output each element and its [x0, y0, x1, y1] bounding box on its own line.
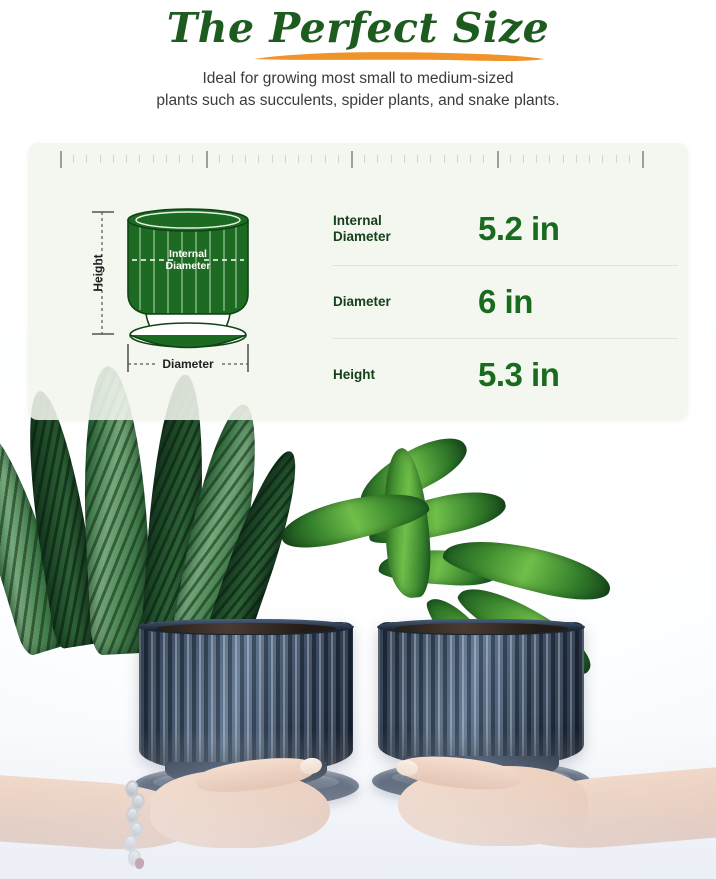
ruler-tick-major	[642, 151, 644, 168]
spec-value-diameter: 6 in	[478, 283, 533, 321]
spec-row-height: Height 5.3 in	[333, 338, 678, 411]
spec-row-diameter: Diameter 6 in	[333, 265, 678, 338]
subtitle-line-2: plants such as succulents, spider plants…	[58, 90, 658, 112]
spec-value-height: 5.3 in	[478, 356, 559, 394]
ruler-tick-minor	[444, 155, 445, 163]
ruler-tick-minor	[616, 155, 617, 163]
ruler-tick-minor	[285, 155, 286, 163]
ruler-tick-major	[497, 151, 499, 168]
ruler-tick-minor	[364, 155, 365, 163]
ruler-strip	[28, 151, 688, 173]
ruler-tick-minor	[510, 155, 511, 163]
diagram-diameter-label: Diameter	[162, 357, 214, 371]
page-title: The Perfect Size	[0, 4, 716, 52]
ruler-tick-minor	[232, 155, 233, 163]
spec-panel: Height Internal Diameter	[28, 143, 688, 420]
ruler-tick-minor	[576, 155, 577, 163]
saucer-right	[372, 760, 590, 802]
ruler-tick-minor	[391, 155, 392, 163]
ruler-tick-minor	[563, 155, 564, 163]
ruler-tick-minor	[298, 155, 299, 163]
ruler-tick-minor	[430, 155, 431, 163]
ruler-tick-minor	[470, 155, 471, 163]
spec-value-internal-diameter: 5.2 in	[478, 210, 559, 248]
ruler-tick-minor	[377, 155, 378, 163]
ruler-tick-minor	[272, 155, 273, 163]
ruler-tick-minor	[179, 155, 180, 163]
infographic-stage: The Perfect Size Ideal for growing most …	[0, 0, 716, 879]
pot-left	[139, 622, 353, 774]
ruler-tick-minor	[73, 155, 74, 163]
ruler-tick-minor	[523, 155, 524, 163]
ruler-tick-minor	[219, 155, 220, 163]
ruler-tick-minor	[139, 155, 140, 163]
ruler-tick-minor	[417, 155, 418, 163]
ruler-tick-minor	[100, 155, 101, 163]
ruler-tick-minor	[629, 155, 630, 163]
pot-diagram: Height Internal Diameter	[70, 198, 310, 388]
ruler-tick-minor	[325, 155, 326, 163]
ruler-tick-minor	[245, 155, 246, 163]
ruler-tick-minor	[311, 155, 312, 163]
ruler-tick-minor	[602, 155, 603, 163]
ruler-tick-major	[60, 151, 62, 168]
ruler-tick-minor	[258, 155, 259, 163]
spec-label-line-2: Diameter	[333, 229, 478, 245]
subtitle-line-1: Ideal for growing most small to medium-s…	[58, 68, 658, 90]
diagram-height-label: Height	[91, 254, 105, 291]
spec-label-line-1: Internal	[333, 213, 478, 229]
spec-label-height: Height	[333, 367, 478, 383]
title-underline-icon	[248, 50, 548, 64]
ruler-tick-minor	[153, 155, 154, 163]
ruler-tick-minor	[457, 155, 458, 163]
spec-label-internal-diameter: Internal Diameter	[333, 213, 478, 245]
spec-label-diameter: Diameter	[333, 294, 478, 310]
spec-table: Internal Diameter 5.2 in Diameter 6 in H…	[333, 193, 678, 411]
diagram-internal-label-2: Diameter	[166, 260, 211, 272]
ruler-tick-minor	[86, 155, 87, 163]
ruler-tick-minor	[166, 155, 167, 163]
saucer-left	[133, 764, 359, 808]
ruler-tick-major	[206, 151, 208, 168]
ruler-tick-minor	[113, 155, 114, 163]
ruler-tick-minor	[483, 155, 484, 163]
ruler-tick-major	[351, 151, 353, 168]
ruler-tick-minor	[338, 155, 339, 163]
ruler-tick-minor	[404, 155, 405, 163]
ruler-tick-minor	[549, 155, 550, 163]
diagram-internal-label-1: Internal	[169, 248, 207, 260]
ruler-tick-minor	[126, 155, 127, 163]
spec-row-internal-diameter: Internal Diameter 5.2 in	[333, 193, 678, 265]
bracelet	[112, 779, 170, 877]
ruler-tick-minor	[536, 155, 537, 163]
ruler-tick-minor	[589, 155, 590, 163]
page-subtitle: Ideal for growing most small to medium-s…	[58, 68, 658, 112]
pot-right	[378, 622, 584, 768]
ruler-tick-minor	[192, 155, 193, 163]
